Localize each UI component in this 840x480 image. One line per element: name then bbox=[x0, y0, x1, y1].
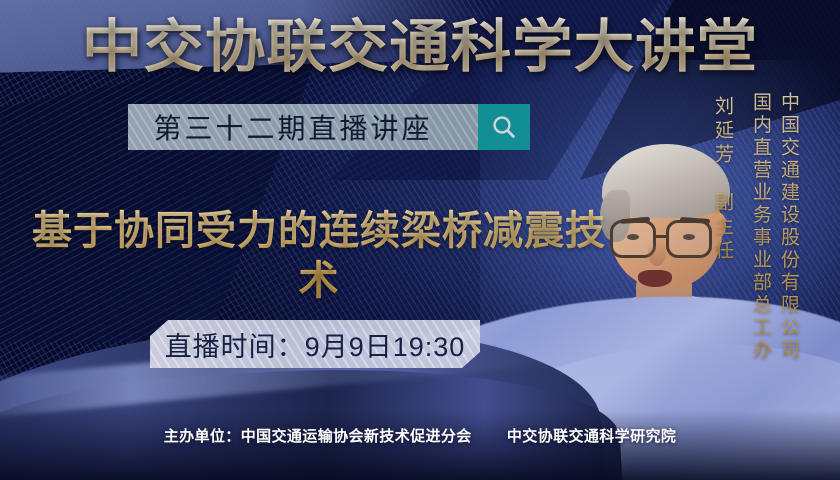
speaker-nose bbox=[648, 240, 666, 266]
topic-title: 基于协同受力的连续梁桥减震技术 bbox=[24, 206, 614, 306]
live-lecture-poster: 中交协联交通科学大讲堂 中交协联交通科学大讲堂 第三十二期直播讲座 基于协同受力… bbox=[0, 0, 840, 480]
speaker-glasses-right bbox=[666, 220, 712, 258]
main-title: 中交协联交通科学大讲堂 bbox=[0, 16, 840, 78]
speaker-name-title: 刘延芳 副主任 bbox=[709, 96, 736, 264]
search-icon bbox=[490, 113, 518, 141]
speaker-department: 国内直营业务事业部总工办 bbox=[747, 92, 774, 362]
organizer-secondary: 中交协联交通科学研究院 bbox=[507, 428, 676, 445]
live-time-text: 直播时间：9月9日19:30 bbox=[165, 325, 466, 364]
live-time-badge: 直播时间：9月9日19:30 bbox=[150, 320, 480, 368]
speaker-mouth bbox=[638, 270, 672, 287]
episode-label: 第三十二期直播讲座 bbox=[128, 107, 478, 147]
speaker-company: 中国交通建设股份有限公司 bbox=[775, 92, 802, 362]
organizer-line: 主办单位：中国交通运输协会新技术促进分会 中交协联交通科学研究院 bbox=[0, 425, 840, 446]
organizer-primary: 主办单位：中国交通运输协会新技术促进分会 bbox=[164, 428, 472, 445]
speaker-glasses-bridge bbox=[656, 235, 668, 238]
episode-banner: 第三十二期直播讲座 bbox=[128, 104, 530, 150]
search-button[interactable] bbox=[478, 104, 530, 150]
